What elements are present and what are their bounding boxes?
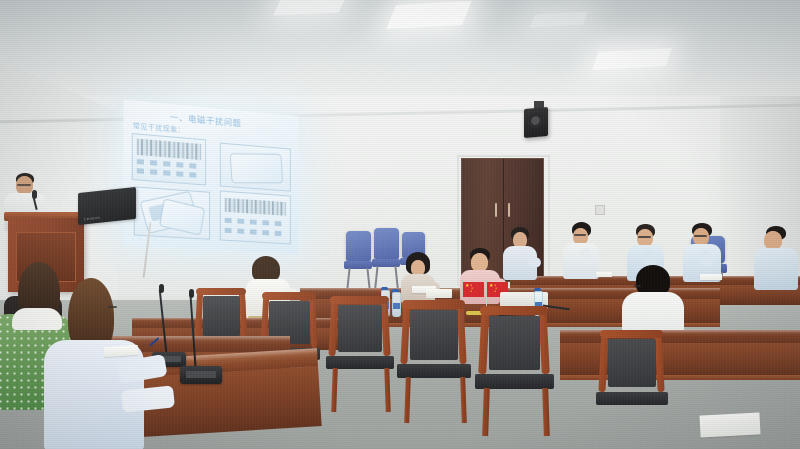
bottle-cap	[534, 288, 541, 291]
paper	[596, 272, 612, 277]
ceiling-light-panel	[273, 0, 347, 16]
water-bottle	[392, 292, 401, 317]
ceiling-light-panel	[386, 1, 471, 29]
slide-instrument-panel	[134, 186, 210, 239]
conference-table-front-right	[560, 330, 800, 390]
door-handle[interactable]	[495, 203, 497, 217]
conference-room-photo: 一、电磁干扰问题 常见干扰现象： · · · · ·	[0, 0, 800, 449]
paper	[700, 274, 722, 280]
slide-device-panel	[220, 143, 291, 192]
paper	[699, 412, 760, 437]
wall-outlet-icon	[595, 205, 605, 215]
wall-speaker-icon	[524, 107, 548, 138]
slide-spectrum-panel	[132, 133, 206, 185]
ceiling-light-panel	[592, 48, 672, 70]
bottle-cap	[381, 287, 388, 290]
ceiling-light-panel	[530, 12, 588, 28]
notebook	[426, 289, 452, 298]
door-handle[interactable]	[508, 203, 510, 217]
laptop-brand-label: Lenovo	[84, 215, 100, 222]
slide-measurement-panel	[220, 190, 291, 244]
bottle-cap	[392, 289, 399, 292]
podium-laptop[interactable]: Lenovo	[78, 187, 136, 225]
